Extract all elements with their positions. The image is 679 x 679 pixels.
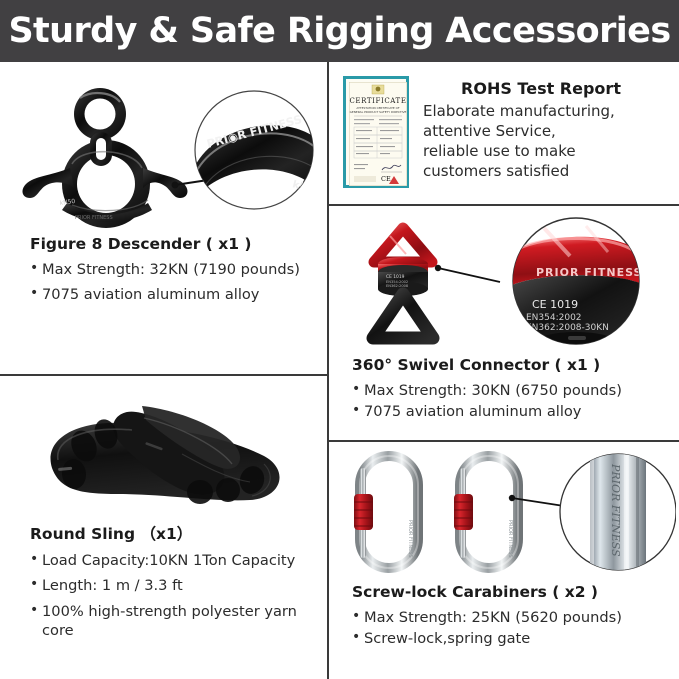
swivel-title: 360° Swivel Connector ( x1 ) <box>352 356 672 374</box>
svg-text:PRIOR FITNESS: PRIOR FITNESS <box>75 215 113 221</box>
horizontal-divider-right-1 <box>327 204 679 206</box>
list-item: Load Capacity:10KN 1Ton Capacity <box>30 551 330 570</box>
svg-text:GENERAL PRODUCT SAFETY DIRECTI: GENERAL PRODUCT SAFETY DIRECTIVE <box>350 110 407 114</box>
swivel-connector-image: CE 1019 EN354:2002 EN362:2008 <box>340 214 676 348</box>
ce-mark-icon: CE <box>381 175 391 183</box>
header-banner: Sturdy & Safe Rigging Accessories <box>0 0 679 62</box>
rohs-text-block: ROHS Test Report Elaborate manufacturing… <box>423 76 659 182</box>
screw-lock-carabiner-image: PRIOR FITNESS PRIOR FITNESS <box>340 448 676 576</box>
swivel-callout-brand: PRIOR FITNESS <box>536 266 642 279</box>
figure-8-bullets: Max Strength: 32KN (7190 pounds) 7075 av… <box>30 260 325 305</box>
swivel-connector-panel: 360° Swivel Connector ( x1 ) Max Strengt… <box>352 356 672 424</box>
list-item: Max Strength: 30KN (6750 pounds) <box>352 381 672 400</box>
round-sling-panel: Round Sling （x1） Load Capacity:10KN 1Ton… <box>30 522 330 646</box>
figure-8-title: Figure 8 Descender ( x1 ) <box>30 235 325 253</box>
horizontal-divider-left-1 <box>0 374 329 376</box>
carabiners-bullets: Max Strength: 25KN (5620 pounds) Screw-l… <box>352 608 672 649</box>
svg-text:PRIOR FITNESS: PRIOR FITNESS <box>407 520 413 558</box>
figure-8-descender-panel: Figure 8 Descender ( x1 ) Max Strength: … <box>30 235 325 311</box>
carabiner-callout-brand: PRIOR FITNESS <box>609 463 622 557</box>
list-item: Length: 1 m / 3.3 ft <box>30 576 330 595</box>
product-infographic: Sturdy & Safe Rigging Accessories <box>0 0 679 679</box>
rohs-body-line: reliable use to make <box>423 142 659 162</box>
rohs-body-line: Elaborate manufacturing, <box>423 102 659 122</box>
page-title: Sturdy & Safe Rigging Accessories <box>8 14 670 49</box>
list-item: 7075 aviation aluminum alloy <box>352 402 672 421</box>
rohs-body-line: attentive Service, <box>423 122 659 142</box>
list-item: Screw-lock,spring gate <box>352 629 672 648</box>
carabiners-title: Screw-lock Carabiners ( x2 ) <box>352 583 672 601</box>
figure-8-descender-image: kN50 PRIOR FITNESS PRI◉R FITNESS kN50 <box>12 72 322 230</box>
rohs-body: Elaborate manufacturing, attentive Servi… <box>423 102 659 182</box>
screw-lock-carabiners-panel: Screw-lock Carabiners ( x2 ) Max Strengt… <box>352 583 672 651</box>
rohs-title: ROHS Test Report <box>423 79 659 98</box>
certificate-image: CERTIFICATE ATTESTATION CERTIFICATE OF G… <box>343 76 409 188</box>
svg-text:PRIOR FITNESS: PRIOR FITNESS <box>507 520 513 558</box>
swivel-callout-line-3: EN362:2008-30KN <box>526 323 609 333</box>
horizontal-divider-right-2 <box>327 440 679 442</box>
list-item: Max Strength: 32KN (7190 pounds) <box>30 260 325 279</box>
rohs-body-line: customers satisfied <box>423 162 659 182</box>
swivel-callout-line-2: EN354:2002 <box>526 313 582 323</box>
list-item: Max Strength: 25KN (5620 pounds) <box>352 608 672 627</box>
svg-text:EN362:2008: EN362:2008 <box>386 284 409 288</box>
round-sling-title: Round Sling （x1） <box>30 522 330 544</box>
list-item: 7075 aviation aluminum alloy <box>30 285 325 304</box>
round-sling-image <box>14 382 324 522</box>
certificate-heading: CERTIFICATE <box>349 97 406 105</box>
swivel-bullets: Max Strength: 30KN (6750 pounds) 7075 av… <box>352 381 672 422</box>
list-item: 100% high-strength polyester yarn core <box>30 602 330 641</box>
figure8-callout-rating: kN50 <box>291 179 322 197</box>
swivel-callout-line-1: CE 1019 <box>532 298 578 311</box>
rohs-test-report-panel: CERTIFICATE ATTESTATION CERTIFICATE OF G… <box>343 76 668 188</box>
round-sling-bullets: Load Capacity:10KN 1Ton Capacity Length:… <box>30 551 330 640</box>
